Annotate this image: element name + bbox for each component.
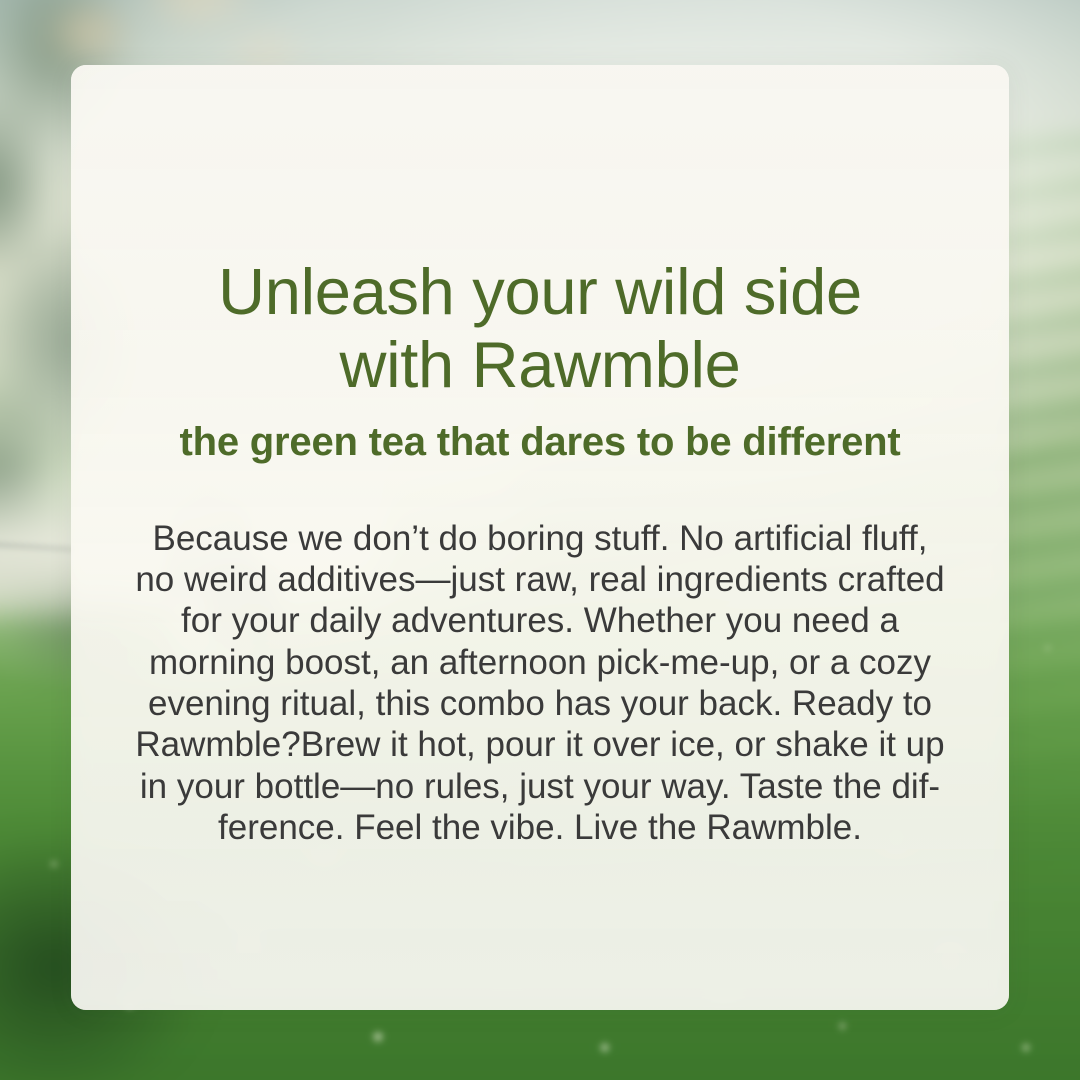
page-subtitle: the green tea that dares to be different: [179, 402, 900, 466]
promo-poster: Unleash your wild side with Rawmble the …: [0, 0, 1080, 1080]
page-title: Unleash your wild side with Rawmble: [218, 65, 862, 402]
card-content: Unleash your wild side with Rawmble the …: [71, 65, 1009, 1010]
body-paragraph: Because we don’t do boring stuff. No art…: [133, 466, 947, 848]
frosted-content-card: Unleash your wild side with Rawmble the …: [71, 65, 1009, 1010]
